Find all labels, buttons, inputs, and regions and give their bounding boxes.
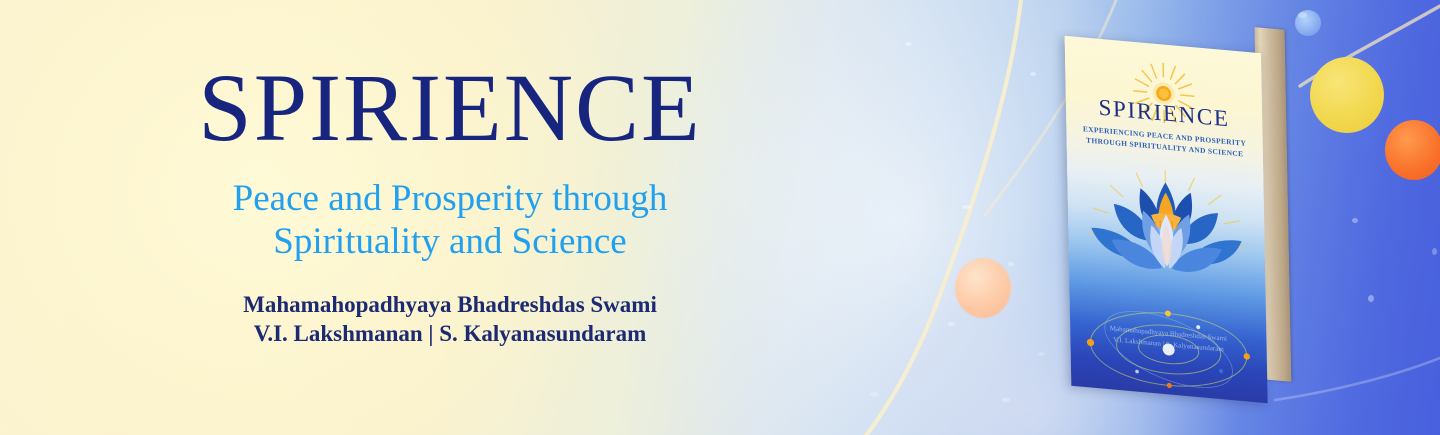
lotus-flower-icon — [1080, 161, 1253, 302]
subtitle-line-1: Peace and Prosperity through — [233, 178, 668, 221]
sparkle — [1030, 72, 1036, 76]
headline-text-block: SPIRIENCE Peace and Prosperity through S… — [0, 0, 900, 435]
author-line-2: V.I. Lakshmanan | S. Kalyanasundaram — [243, 319, 657, 348]
decorative-circle-peach — [955, 258, 1011, 318]
book-mockup[interactable]: SPIRIENCE EXPERIENCING PEACE AND PROSPER… — [1058, 10, 1326, 415]
decorative-circle-yellow — [1310, 57, 1384, 133]
author-credits: Mahamahopadhyaya Bhadreshdas Swami V.I. … — [243, 290, 657, 349]
author-line-1: Mahamahopadhyaya Bhadreshdas Swami — [243, 290, 657, 319]
decorative-circle-orange — [1385, 120, 1440, 180]
page-title: SPIRIENCE — [198, 60, 701, 156]
sparkle — [905, 42, 912, 46]
sparkle — [1432, 248, 1437, 255]
promotional-banner: SPIRIENCE Peace and Prosperity through S… — [0, 0, 1440, 435]
sparkle — [1038, 352, 1045, 356]
book-cover-artwork: SPIRIENCE EXPERIENCING PEACE AND PROSPER… — [1065, 36, 1268, 403]
sparkle — [948, 322, 955, 326]
sparkle — [1008, 262, 1014, 266]
book-front-cover: SPIRIENCE EXPERIENCING PEACE AND PROSPER… — [1065, 36, 1268, 403]
sparkle — [1368, 295, 1374, 302]
sparkle — [1002, 398, 1010, 402]
subtitle-line-2: Spirituality and Science — [233, 221, 668, 264]
page-subtitle: Peace and Prosperity through Spiritualit… — [233, 178, 668, 264]
sparkle — [962, 205, 971, 209]
sparkle — [1352, 218, 1358, 223]
